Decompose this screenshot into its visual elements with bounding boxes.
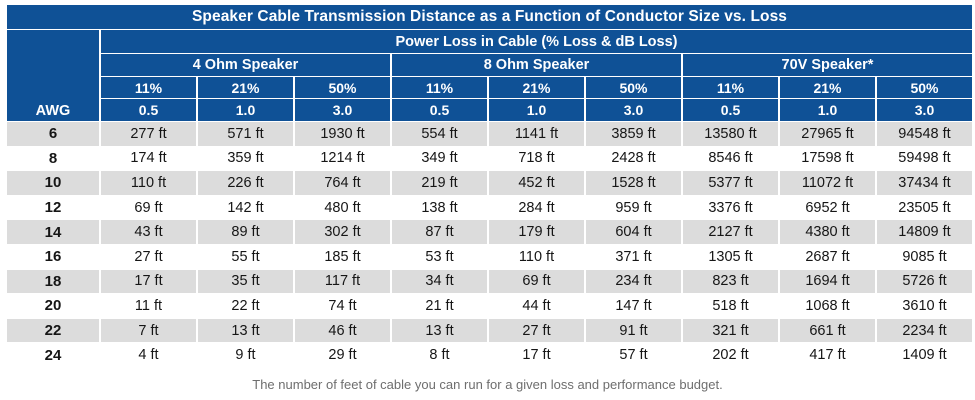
awg-value: 22 — [7, 319, 99, 343]
awg-value: 6 — [7, 122, 99, 146]
distance-cell: 764 ft — [295, 171, 390, 195]
distance-cell: 23505 ft — [877, 196, 972, 220]
distance-cell: 142 ft — [198, 196, 293, 220]
table-row: 18 17 ft 35 ft 117 ft 34 ft 69 ft 234 ft… — [7, 270, 972, 294]
distance-cell: 226 ft — [198, 171, 293, 195]
distance-cell: 55 ft — [198, 245, 293, 269]
distance-cell: 417 ft — [780, 343, 875, 367]
table-row: 14 43 ft 89 ft 302 ft 87 ft 179 ft 604 f… — [7, 220, 972, 244]
distance-cell: 57 ft — [586, 343, 681, 367]
distance-cell: 1930 ft — [295, 122, 390, 146]
distance-cell: 27965 ft — [780, 122, 875, 146]
db-header-4ohm-10: 1.0 — [198, 99, 293, 121]
group-header-70v: 70V Speaker* — [683, 54, 972, 76]
distance-cell: 44 ft — [489, 294, 584, 318]
pct-header-70v-50: 50% — [877, 77, 972, 98]
db-header-70v-05: 0.5 — [683, 99, 778, 121]
speaker-group-row: 4 Ohm Speaker 8 Ohm Speaker 70V Speaker* — [7, 54, 972, 76]
distance-cell: 2234 ft — [877, 319, 972, 343]
distance-cell: 234 ft — [586, 270, 681, 294]
pct-header-8ohm-11: 11% — [392, 77, 487, 98]
distance-cell: 13580 ft — [683, 122, 778, 146]
db-header-4ohm-05: 0.5 — [101, 99, 196, 121]
distance-cell: 359 ft — [198, 147, 293, 171]
power-loss-group-header: Power Loss in Cable (% Loss & dB Loss) — [101, 30, 972, 53]
distance-cell: 110 ft — [101, 171, 196, 195]
distance-cell: 69 ft — [101, 196, 196, 220]
distance-cell: 959 ft — [586, 196, 681, 220]
distance-cell: 27 ft — [101, 245, 196, 269]
distance-cell: 1214 ft — [295, 147, 390, 171]
distance-cell: 5726 ft — [877, 270, 972, 294]
table-row: 10 110 ft 226 ft 764 ft 219 ft 452 ft 15… — [7, 171, 972, 195]
distance-cell: 9085 ft — [877, 245, 972, 269]
distance-cell: 3610 ft — [877, 294, 972, 318]
pct-header-70v-21: 21% — [780, 77, 875, 98]
distance-cell: 718 ft — [489, 147, 584, 171]
distance-cell: 4380 ft — [780, 220, 875, 244]
distance-cell: 29 ft — [295, 343, 390, 367]
distance-cell: 2428 ft — [586, 147, 681, 171]
db-header-4ohm-30: 3.0 — [295, 99, 390, 121]
distance-cell: 284 ft — [489, 196, 584, 220]
pct-header-8ohm-50: 50% — [586, 77, 681, 98]
distance-cell: 1068 ft — [780, 294, 875, 318]
awg-value: 10 — [7, 171, 99, 195]
distance-cell: 3859 ft — [586, 122, 681, 146]
awg-value: 14 — [7, 220, 99, 244]
distance-cell: 17 ft — [101, 270, 196, 294]
distance-cell: 110 ft — [489, 245, 584, 269]
pct-header-4ohm-21: 21% — [198, 77, 293, 98]
distance-cell: 371 ft — [586, 245, 681, 269]
distance-cell: 302 ft — [295, 220, 390, 244]
distance-cell: 1305 ft — [683, 245, 778, 269]
db-header-70v-10: 1.0 — [780, 99, 875, 121]
distance-cell: 823 ft — [683, 270, 778, 294]
table-row: 8 174 ft 359 ft 1214 ft 349 ft 718 ft 24… — [7, 147, 972, 171]
table-row: 22 7 ft 13 ft 46 ft 13 ft 27 ft 91 ft 32… — [7, 319, 972, 343]
db-header-8ohm-10: 1.0 — [489, 99, 584, 121]
pct-header-4ohm-11: 11% — [101, 77, 196, 98]
distance-cell: 1528 ft — [586, 171, 681, 195]
distance-cell: 94548 ft — [877, 122, 972, 146]
distance-cell: 27 ft — [489, 319, 584, 343]
distance-cell: 8546 ft — [683, 147, 778, 171]
awg-value: 18 — [7, 270, 99, 294]
db-loss-row: 0.5 1.0 3.0 0.5 1.0 3.0 0.5 1.0 3.0 — [7, 99, 972, 121]
distance-cell: 7 ft — [101, 319, 196, 343]
distance-cell: 2127 ft — [683, 220, 778, 244]
distance-cell: 185 ft — [295, 245, 390, 269]
distance-cell: 87 ft — [392, 220, 487, 244]
distance-cell: 604 ft — [586, 220, 681, 244]
distance-cell: 4 ft — [101, 343, 196, 367]
awg-value: 12 — [7, 196, 99, 220]
distance-cell: 219 ft — [392, 171, 487, 195]
distance-cell: 17 ft — [489, 343, 584, 367]
distance-cell: 34 ft — [392, 270, 487, 294]
db-header-8ohm-30: 3.0 — [586, 99, 681, 121]
awg-value: 20 — [7, 294, 99, 318]
distance-cell: 46 ft — [295, 319, 390, 343]
distance-cell: 321 ft — [683, 319, 778, 343]
distance-cell: 277 ft — [101, 122, 196, 146]
pct-header-8ohm-21: 21% — [489, 77, 584, 98]
distance-cell: 35 ft — [198, 270, 293, 294]
pct-header-4ohm-50: 50% — [295, 77, 390, 98]
table-header: Speaker Cable Transmission Distance as a… — [7, 5, 972, 121]
group-header-4-ohm: 4 Ohm Speaker — [101, 54, 390, 76]
table-row: 12 69 ft 142 ft 480 ft 138 ft 284 ft 959… — [7, 196, 972, 220]
pct-header-70v-11: 11% — [683, 77, 778, 98]
distance-cell: 174 ft — [101, 147, 196, 171]
distance-cell: 3376 ft — [683, 196, 778, 220]
distance-cell: 571 ft — [198, 122, 293, 146]
distance-cell: 74 ft — [295, 294, 390, 318]
awg-value: 8 — [7, 147, 99, 171]
table-row: 6 277 ft 571 ft 1930 ft 554 ft 1141 ft 3… — [7, 122, 972, 146]
distance-cell: 518 ft — [683, 294, 778, 318]
db-header-70v-30: 3.0 — [877, 99, 972, 121]
title-row: Speaker Cable Transmission Distance as a… — [7, 5, 972, 29]
super-group-row: AWG Power Loss in Cable (% Loss & dB Los… — [7, 30, 972, 53]
table-row: 24 4 ft 9 ft 29 ft 8 ft 17 ft 57 ft 202 … — [7, 343, 972, 367]
distance-cell: 480 ft — [295, 196, 390, 220]
distance-cell: 53 ft — [392, 245, 487, 269]
awg-column-header: AWG — [7, 30, 99, 121]
distance-cell: 147 ft — [586, 294, 681, 318]
distance-cell: 43 ft — [101, 220, 196, 244]
cable-distance-table-container: Speaker Cable Transmission Distance as a… — [0, 0, 975, 400]
distance-cell: 13 ft — [392, 319, 487, 343]
distance-cell: 452 ft — [489, 171, 584, 195]
distance-cell: 1141 ft — [489, 122, 584, 146]
table-row: 20 11 ft 22 ft 74 ft 21 ft 44 ft 147 ft … — [7, 294, 972, 318]
distance-cell: 202 ft — [683, 343, 778, 367]
distance-cell: 138 ft — [392, 196, 487, 220]
distance-cell: 8 ft — [392, 343, 487, 367]
distance-cell: 89 ft — [198, 220, 293, 244]
distance-cell: 554 ft — [392, 122, 487, 146]
distance-cell: 69 ft — [489, 270, 584, 294]
distance-cell: 11072 ft — [780, 171, 875, 195]
distance-cell: 349 ft — [392, 147, 487, 171]
distance-cell: 661 ft — [780, 319, 875, 343]
db-header-8ohm-05: 0.5 — [392, 99, 487, 121]
distance-cell: 37434 ft — [877, 171, 972, 195]
distance-cell: 14809 ft — [877, 220, 972, 244]
group-header-8-ohm: 8 Ohm Speaker — [392, 54, 681, 76]
cable-distance-table: Speaker Cable Transmission Distance as a… — [5, 4, 974, 368]
table-caption: The number of feet of cable you can run … — [0, 377, 975, 392]
awg-value: 24 — [7, 343, 99, 367]
page-title: Speaker Cable Transmission Distance as a… — [7, 5, 972, 29]
percent-loss-row: 11% 21% 50% 11% 21% 50% 11% 21% 50% — [7, 77, 972, 98]
distance-cell: 1694 ft — [780, 270, 875, 294]
distance-cell: 1409 ft — [877, 343, 972, 367]
distance-cell: 13 ft — [198, 319, 293, 343]
distance-cell: 6952 ft — [780, 196, 875, 220]
distance-cell: 21 ft — [392, 294, 487, 318]
distance-cell: 17598 ft — [780, 147, 875, 171]
distance-cell: 9 ft — [198, 343, 293, 367]
distance-cell: 5377 ft — [683, 171, 778, 195]
distance-cell: 117 ft — [295, 270, 390, 294]
table-body: 6 277 ft 571 ft 1930 ft 554 ft 1141 ft 3… — [7, 122, 972, 367]
distance-cell: 11 ft — [101, 294, 196, 318]
awg-value: 16 — [7, 245, 99, 269]
distance-cell: 59498 ft — [877, 147, 972, 171]
distance-cell: 179 ft — [489, 220, 584, 244]
distance-cell: 2687 ft — [780, 245, 875, 269]
distance-cell: 22 ft — [198, 294, 293, 318]
distance-cell: 91 ft — [586, 319, 681, 343]
table-row: 16 27 ft 55 ft 185 ft 53 ft 110 ft 371 f… — [7, 245, 972, 269]
